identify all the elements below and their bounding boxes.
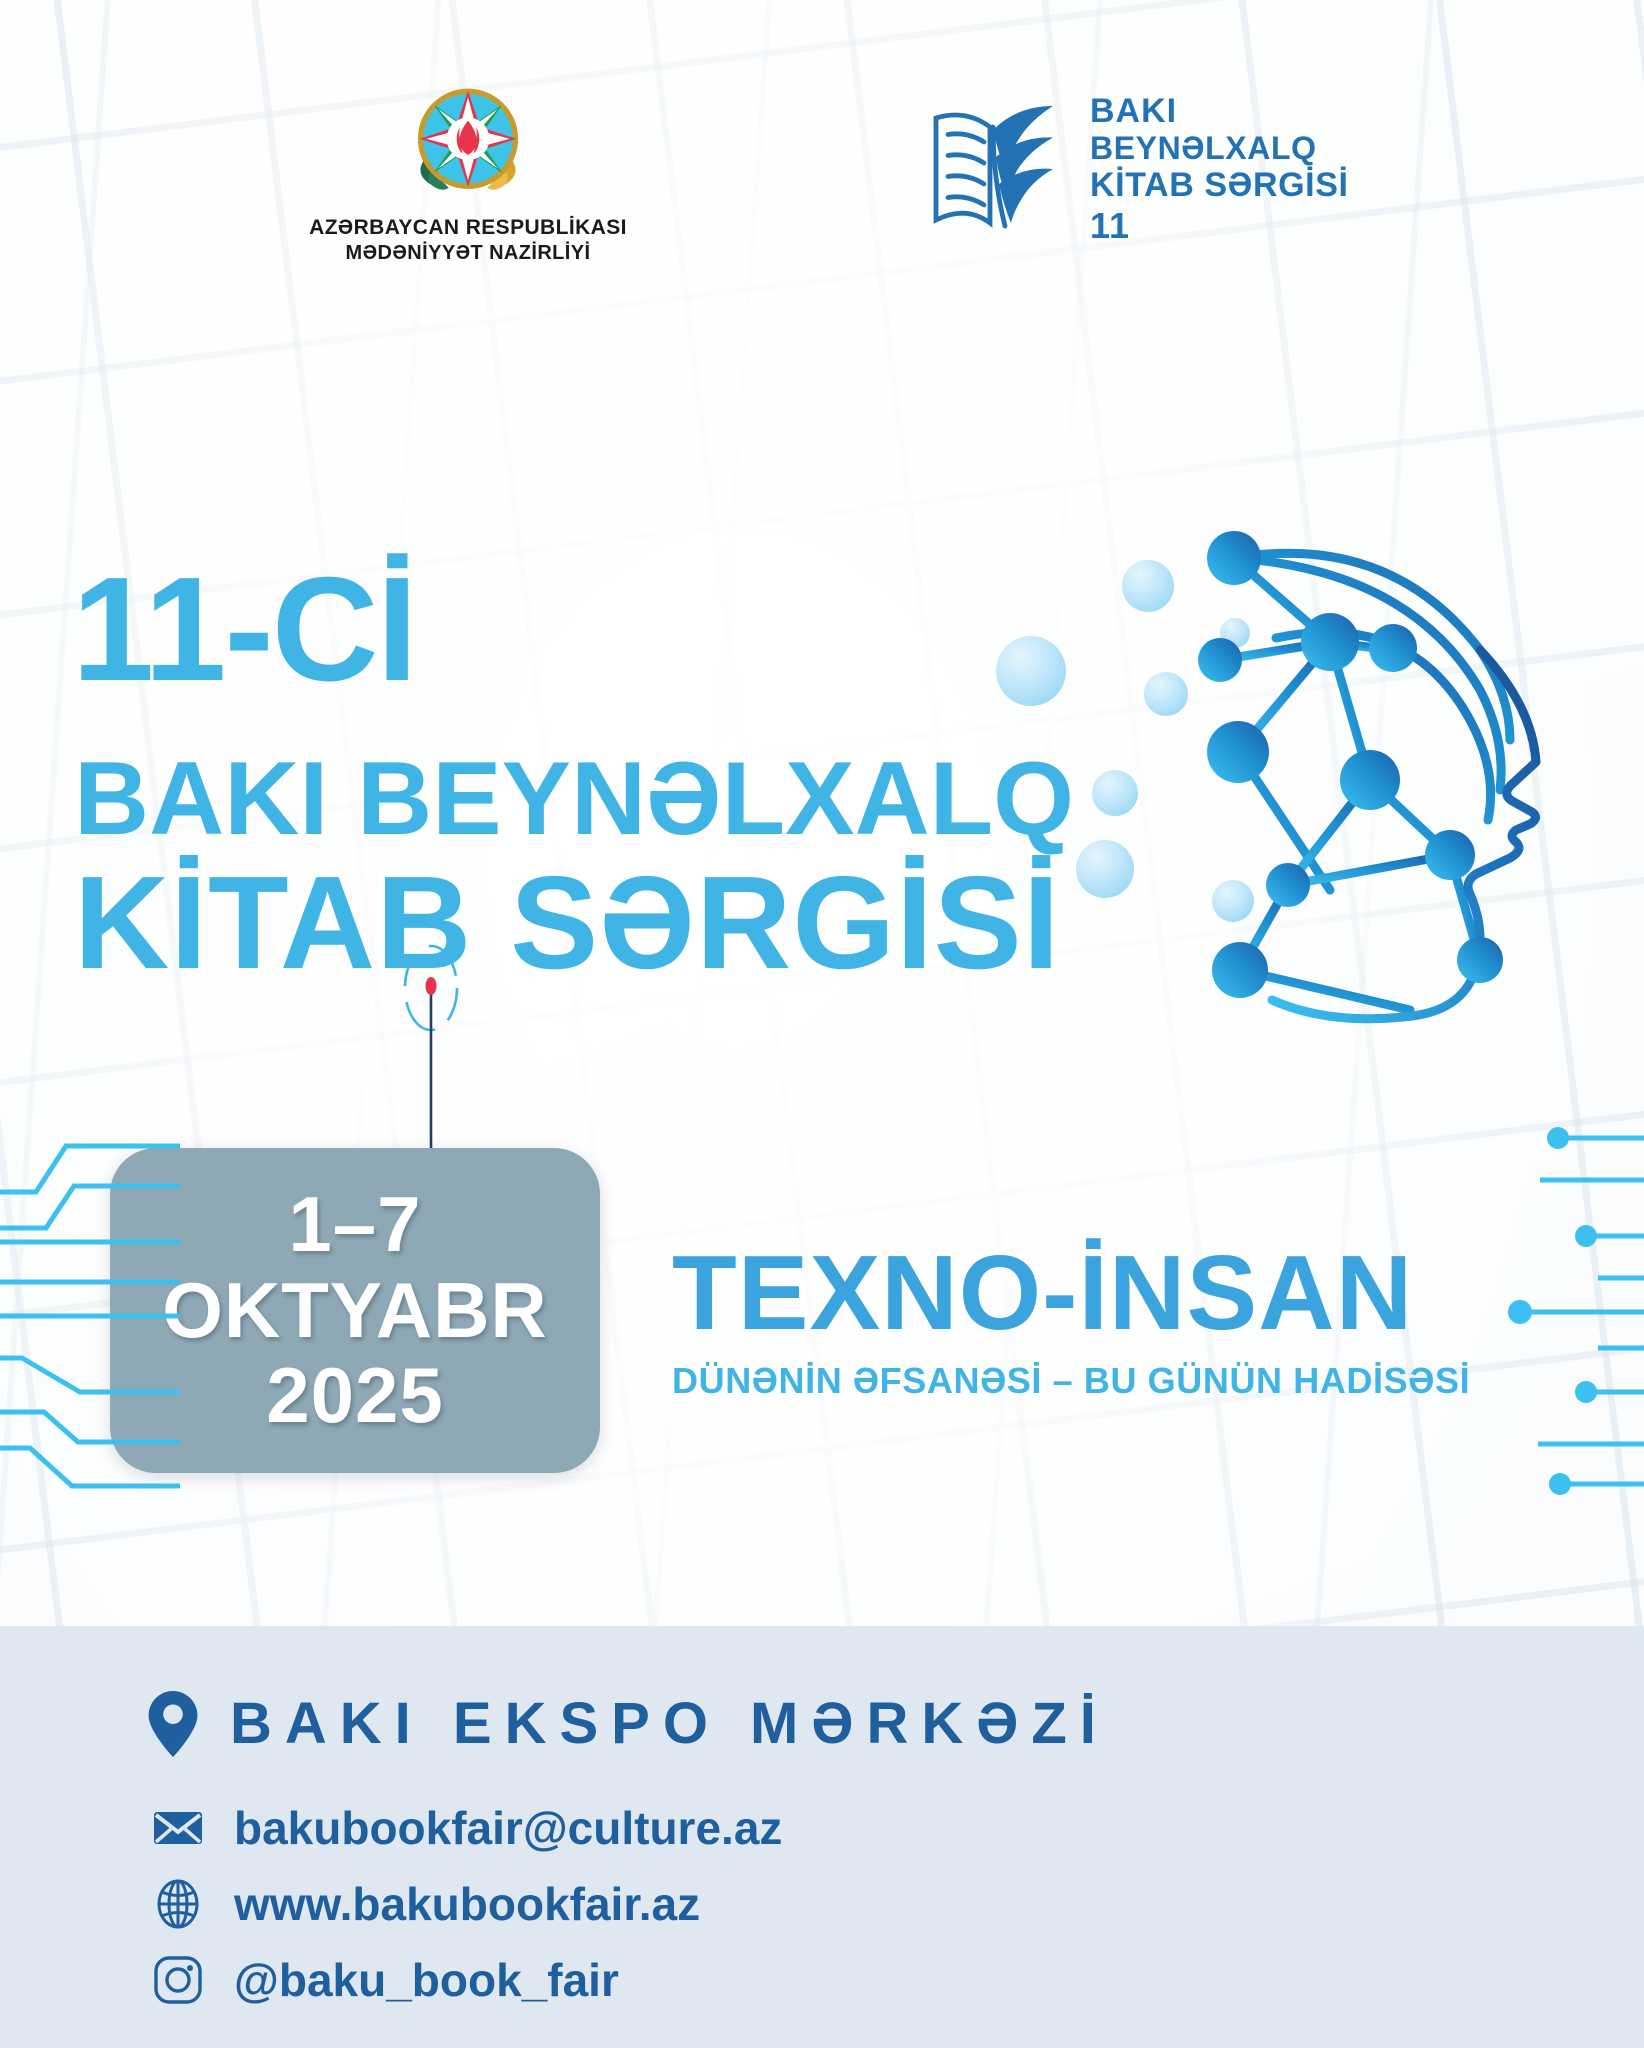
title-line-3: KİTAB SƏRGİSİ — [74, 860, 1060, 985]
circuit-traces-left-decoration — [0, 1130, 180, 1500]
venue-row: BAKI EKSPO MƏRKƏZİ — [148, 1690, 1109, 1757]
map-pin-icon — [148, 1691, 198, 1757]
contact-instagram-label: @baku_book_fair — [234, 1953, 619, 2007]
bubble — [1092, 770, 1138, 816]
date-month: OKTYABR — [162, 1271, 548, 1351]
instagram-icon — [152, 1954, 204, 2006]
slogan-block: TEXNO-İNSAN DÜNƏNİN ƏFSANƏSİ – BU GÜNÜN … — [672, 1240, 1470, 1402]
poster-root: AZƏRBAYCAN RESPUBLİKASI MƏDƏNİYYƏT NAZİR… — [0, 0, 1644, 2048]
contact-email-label: bakubookfair@culture.az — [234, 1801, 782, 1855]
fair-logo-line1: BAKI — [1090, 94, 1349, 128]
date-days: 1–7 — [288, 1185, 421, 1265]
envelope-icon — [152, 1802, 204, 1854]
venue-label: BAKI EKSPO MƏRKƏZİ — [230, 1690, 1109, 1757]
event-date-badge: 1–7 OKTYABR 2025 — [110, 1148, 600, 1473]
slogan-main-text: TEXNO-İNSAN — [672, 1240, 1470, 1346]
header-logo-row: AZƏRBAYCAN RESPUBLİKASI MƏDƏNİYYƏT NAZİR… — [0, 0, 1644, 330]
date-year: 2025 — [266, 1356, 444, 1436]
title-line-2: BAKI BEYNƏLXALQ — [74, 750, 1074, 849]
book-fair-logo: BAKI BEYNƏLXALQ KİTAB SƏRGİSİ 11 — [918, 88, 1349, 244]
bubble — [1076, 840, 1134, 898]
globe-icon — [152, 1878, 204, 1930]
slogan-sub-text: DÜNƏNİN ƏFSANƏSİ – BU GÜNÜN HADİSƏSİ — [672, 1360, 1470, 1402]
fair-logo-line3: KİTAB SƏRGİSİ — [1090, 168, 1349, 202]
contact-row-email[interactable]: bakubookfair@culture.az — [152, 1801, 782, 1855]
bubble — [996, 636, 1066, 706]
government-logo: AZƏRBAYCAN RESPUBLİKASI MƏDƏNİYYƏT NAZİR… — [258, 78, 678, 266]
contact-list: bakubookfair@culture.az www.bakubookfair… — [152, 1801, 782, 2007]
footer-contact-band: BAKI EKSPO MƏRKƏZİ bakubookfair@culture.… — [0, 1626, 1644, 2048]
title-line-1: 11-Cİ — [72, 560, 416, 701]
fair-logo-line4: 11 — [1090, 208, 1349, 244]
azerbaijan-state-emblem-icon — [404, 78, 532, 206]
contact-website-label: www.bakubookfair.az — [234, 1877, 700, 1931]
fair-logo-line2: BEYNƏLXALQ — [1090, 132, 1349, 164]
bubble — [1122, 560, 1174, 612]
book-fair-logo-text: BAKI BEYNƏLXALQ KİTAB SƏRGİSİ 11 — [1090, 88, 1349, 244]
government-logo-line1: AZƏRBAYCAN RESPUBLİKASI — [258, 215, 678, 241]
government-logo-line2: MƏDƏNİYYƏT NAZİRLİYİ — [258, 241, 678, 266]
techno-human-head-network-graphic — [1180, 490, 1620, 1050]
contact-row-website[interactable]: www.bakubookfair.az — [152, 1877, 782, 1931]
circuit-traces-right-decoration — [1470, 1120, 1644, 1500]
atom-antenna-icon — [386, 940, 476, 1160]
contact-row-instagram[interactable]: @baku_book_fair — [152, 1953, 782, 2007]
open-book-icon — [918, 88, 1068, 238]
